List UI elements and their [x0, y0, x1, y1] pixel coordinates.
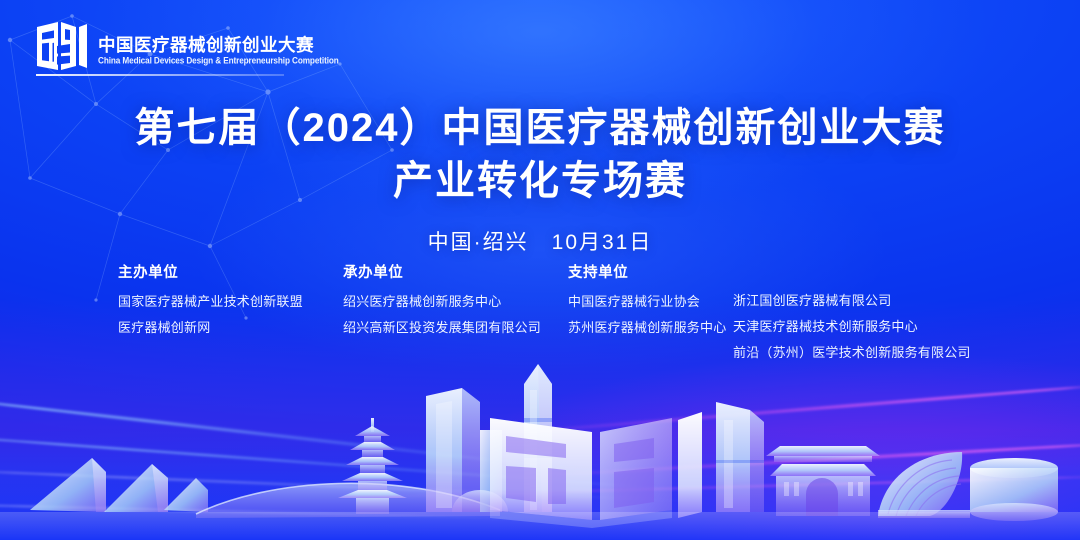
brand-logo[interactable]: 中国医疗器械创新创业大赛 China Medical Devices Desig…	[36, 20, 339, 74]
organizer-item: 医疗器械创新网	[118, 321, 343, 334]
brand-text: 中国医疗器械创新创业大赛 China Medical Devices Desig…	[98, 29, 339, 65]
organizer-heading: 支持单位	[568, 266, 733, 281]
organizer-column-undertaker: 承办单位 绍兴医疗器械创新服务中心 绍兴高新区投资发展集团有限公司	[343, 266, 568, 372]
traditional-gate-icon	[766, 446, 880, 516]
open-door-logo-icon	[36, 20, 88, 74]
page-title-line1: 第七届（2024）中国医疗器械创新创业大赛	[0, 104, 1080, 153]
brand-name-cn: 中国医疗器械创新创业大赛	[98, 37, 339, 55]
organizer-heading: 承办单位	[343, 266, 568, 281]
twin-tower-icon	[716, 402, 764, 512]
stepped-stadium-icon	[878, 452, 970, 518]
organizer-item: 前沿（苏州）医学技术创新服务有限公司	[733, 346, 998, 359]
organizer-column-support-extra: 浙江国创医疗器械有限公司 天津医疗器械技术创新服务中心 前沿（苏州）医学技术创新…	[733, 266, 998, 372]
event-location-date: 中国·绍兴 10月31日	[0, 226, 1080, 256]
organizer-item: 天津医疗器械技术创新服务中心	[733, 320, 998, 333]
organizer-item: 国家医疗器械产业技术创新联盟	[118, 295, 343, 308]
brand-name-en: China Medical Devices Design & Entrepren…	[98, 57, 339, 66]
organizer-item: 中国医疗器械行业协会	[568, 295, 733, 308]
page-title-line2: 产业转化专场赛	[0, 157, 1080, 206]
organizer-item: 浙江国创医疗器械有限公司	[733, 294, 998, 307]
poster-canvas: 中国医疗器械创新创业大赛 China Medical Devices Desig…	[0, 0, 1080, 540]
organizer-item: 绍兴高新区投资发展集团有限公司	[343, 321, 568, 334]
organizer-item: 苏州医疗器械创新服务中心	[568, 321, 733, 334]
brand-underline	[36, 74, 284, 76]
city-skyline-illustration	[0, 360, 1080, 540]
organizer-section: 主办单位 国家医疗器械产业技术创新联盟 医疗器械创新网 承办单位 绍兴医疗器械创…	[118, 266, 998, 372]
competition-logo-monument-icon	[490, 412, 702, 528]
cylinder-building-icon	[970, 458, 1058, 521]
organizer-column-host: 主办单位 国家医疗器械产业技术创新联盟 医疗器械创新网	[118, 266, 343, 372]
sail-pavilion-icon	[30, 458, 208, 512]
organizer-column-support: 支持单位 中国医疗器械行业协会 苏州医疗器械创新服务中心	[568, 266, 733, 372]
organizer-heading: 主办单位	[118, 266, 343, 281]
title-block: 第七届（2024）中国医疗器械创新创业大赛 产业转化专场赛 中国·绍兴 10月3…	[0, 104, 1080, 256]
organizer-item: 绍兴医疗器械创新服务中心	[343, 295, 568, 308]
